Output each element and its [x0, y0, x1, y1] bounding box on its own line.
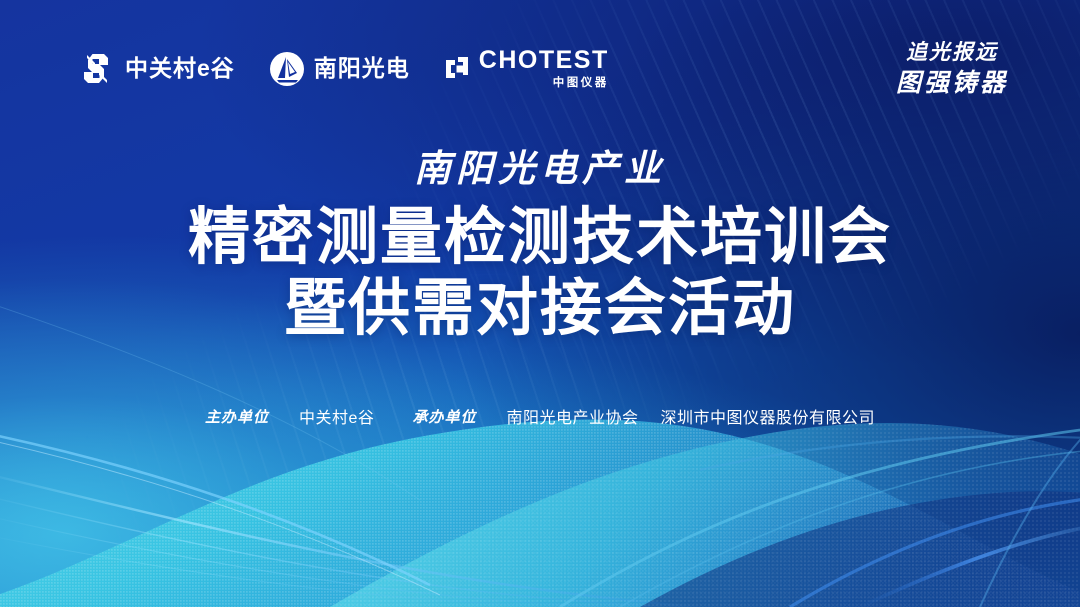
logo-chotest-label: CHOTEST [479, 48, 609, 73]
slogan-line-2: 图强铸器 [896, 66, 1008, 99]
organizer-label: 承办单位 [412, 406, 476, 427]
zgc-e-valley-mark-icon [78, 52, 116, 86]
event-poster: 中关村e谷 南阳光电 CHOTEST 中图仪器 [0, 0, 1080, 607]
nanyang-photoelectric-mark-icon [269, 51, 305, 87]
organizer-row: 主办单位 中关村e谷 承办单位 南阳光电产业协会 深圳市中图仪器股份有限公司 [0, 404, 1080, 428]
logo-nanyang-photoelectric[interactable]: 南阳光电 [269, 51, 410, 87]
logo-nanyang-label: 南阳光电 [314, 57, 410, 80]
sponsor-logo-bar: 中关村e谷 南阳光电 CHOTEST 中图仪器 [78, 48, 609, 90]
host-label: 主办单位 [205, 406, 269, 427]
title-headline-line-1: 精密测量检测技术培训会 [0, 203, 1080, 272]
calligraphy-slogan: 追光报远 图强铸器 [896, 38, 1008, 99]
title-headline-line-2: 暨供需对接会活动 [0, 274, 1080, 343]
logo-zgc-e-valley[interactable]: 中关村e谷 [78, 52, 235, 86]
logo-chotest[interactable]: CHOTEST 中图仪器 [444, 48, 609, 90]
logo-zgc-e-valley-label: 中关村e谷 [125, 57, 235, 80]
host-name: 中关村e谷 [299, 404, 374, 428]
organizer-name-2: 深圳市中图仪器股份有限公司 [660, 404, 875, 428]
title-block: 南阳光电产业 精密测量检测技术培训会 暨供需对接会活动 [0, 150, 1080, 344]
slogan-line-1: 追光报远 [896, 38, 1008, 66]
chotest-mark-icon [444, 54, 470, 84]
logo-chotest-sublabel: 中图仪器 [553, 78, 609, 90]
title-kicker: 南阳光电产业 [0, 150, 1080, 187]
organizer-name-1: 南阳光电产业协会 [506, 404, 638, 428]
